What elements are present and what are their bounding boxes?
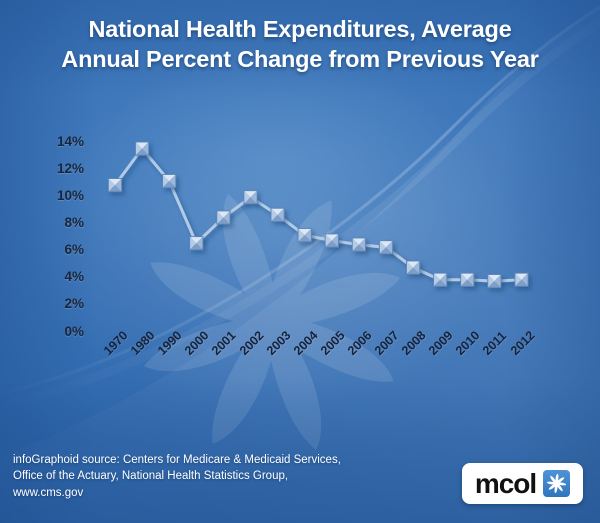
source-note-line-2: Office of the Actuary, National Health S… [13, 468, 341, 485]
data-point-marker [271, 208, 284, 221]
y-axis-tick-label: 14% [30, 134, 84, 149]
data-point-marker [407, 261, 420, 274]
y-axis-tick-label: 4% [30, 269, 84, 284]
series-markers [108, 142, 528, 288]
series-line [115, 149, 522, 281]
data-point-marker [379, 241, 392, 254]
data-point-marker [461, 273, 474, 286]
data-point-marker [325, 234, 338, 247]
data-point-marker [434, 273, 447, 286]
data-point-marker [163, 174, 176, 187]
data-point-marker [217, 211, 230, 224]
data-point-marker [190, 237, 203, 250]
y-axis-tick-label: 8% [30, 215, 84, 230]
y-axis-tick-label: 10% [30, 188, 84, 203]
source-note-line-3: www.cms.gov [13, 485, 341, 502]
data-point-marker [515, 273, 528, 286]
data-point-marker [136, 142, 149, 155]
source-note-line-1: infoGraphoid source: Centers for Medicar… [13, 452, 341, 469]
y-axis-tick-label: 12% [30, 161, 84, 176]
chart-canvas [0, 0, 600, 430]
y-axis-tick-label: 2% [30, 296, 84, 311]
source-note: infoGraphoid source: Centers for Medicar… [13, 452, 341, 502]
mcol-logo-wordmark: mcol [475, 470, 536, 498]
mcol-logo[interactable]: mcol [462, 463, 583, 504]
y-axis-tick-label: 6% [30, 242, 84, 257]
data-point-marker [352, 238, 365, 251]
data-point-marker [298, 229, 311, 242]
data-point-marker [244, 191, 257, 204]
pinwheel-asterisk-icon [543, 470, 570, 497]
line-chart: 0%2%4%6%8%10%12%14% 19701980199020002001… [0, 0, 600, 430]
y-axis-tick-label: 0% [30, 324, 84, 339]
data-point-marker [108, 179, 121, 192]
infographic-root: National Health Expenditures, Average An… [0, 0, 600, 523]
data-point-marker [488, 275, 501, 288]
